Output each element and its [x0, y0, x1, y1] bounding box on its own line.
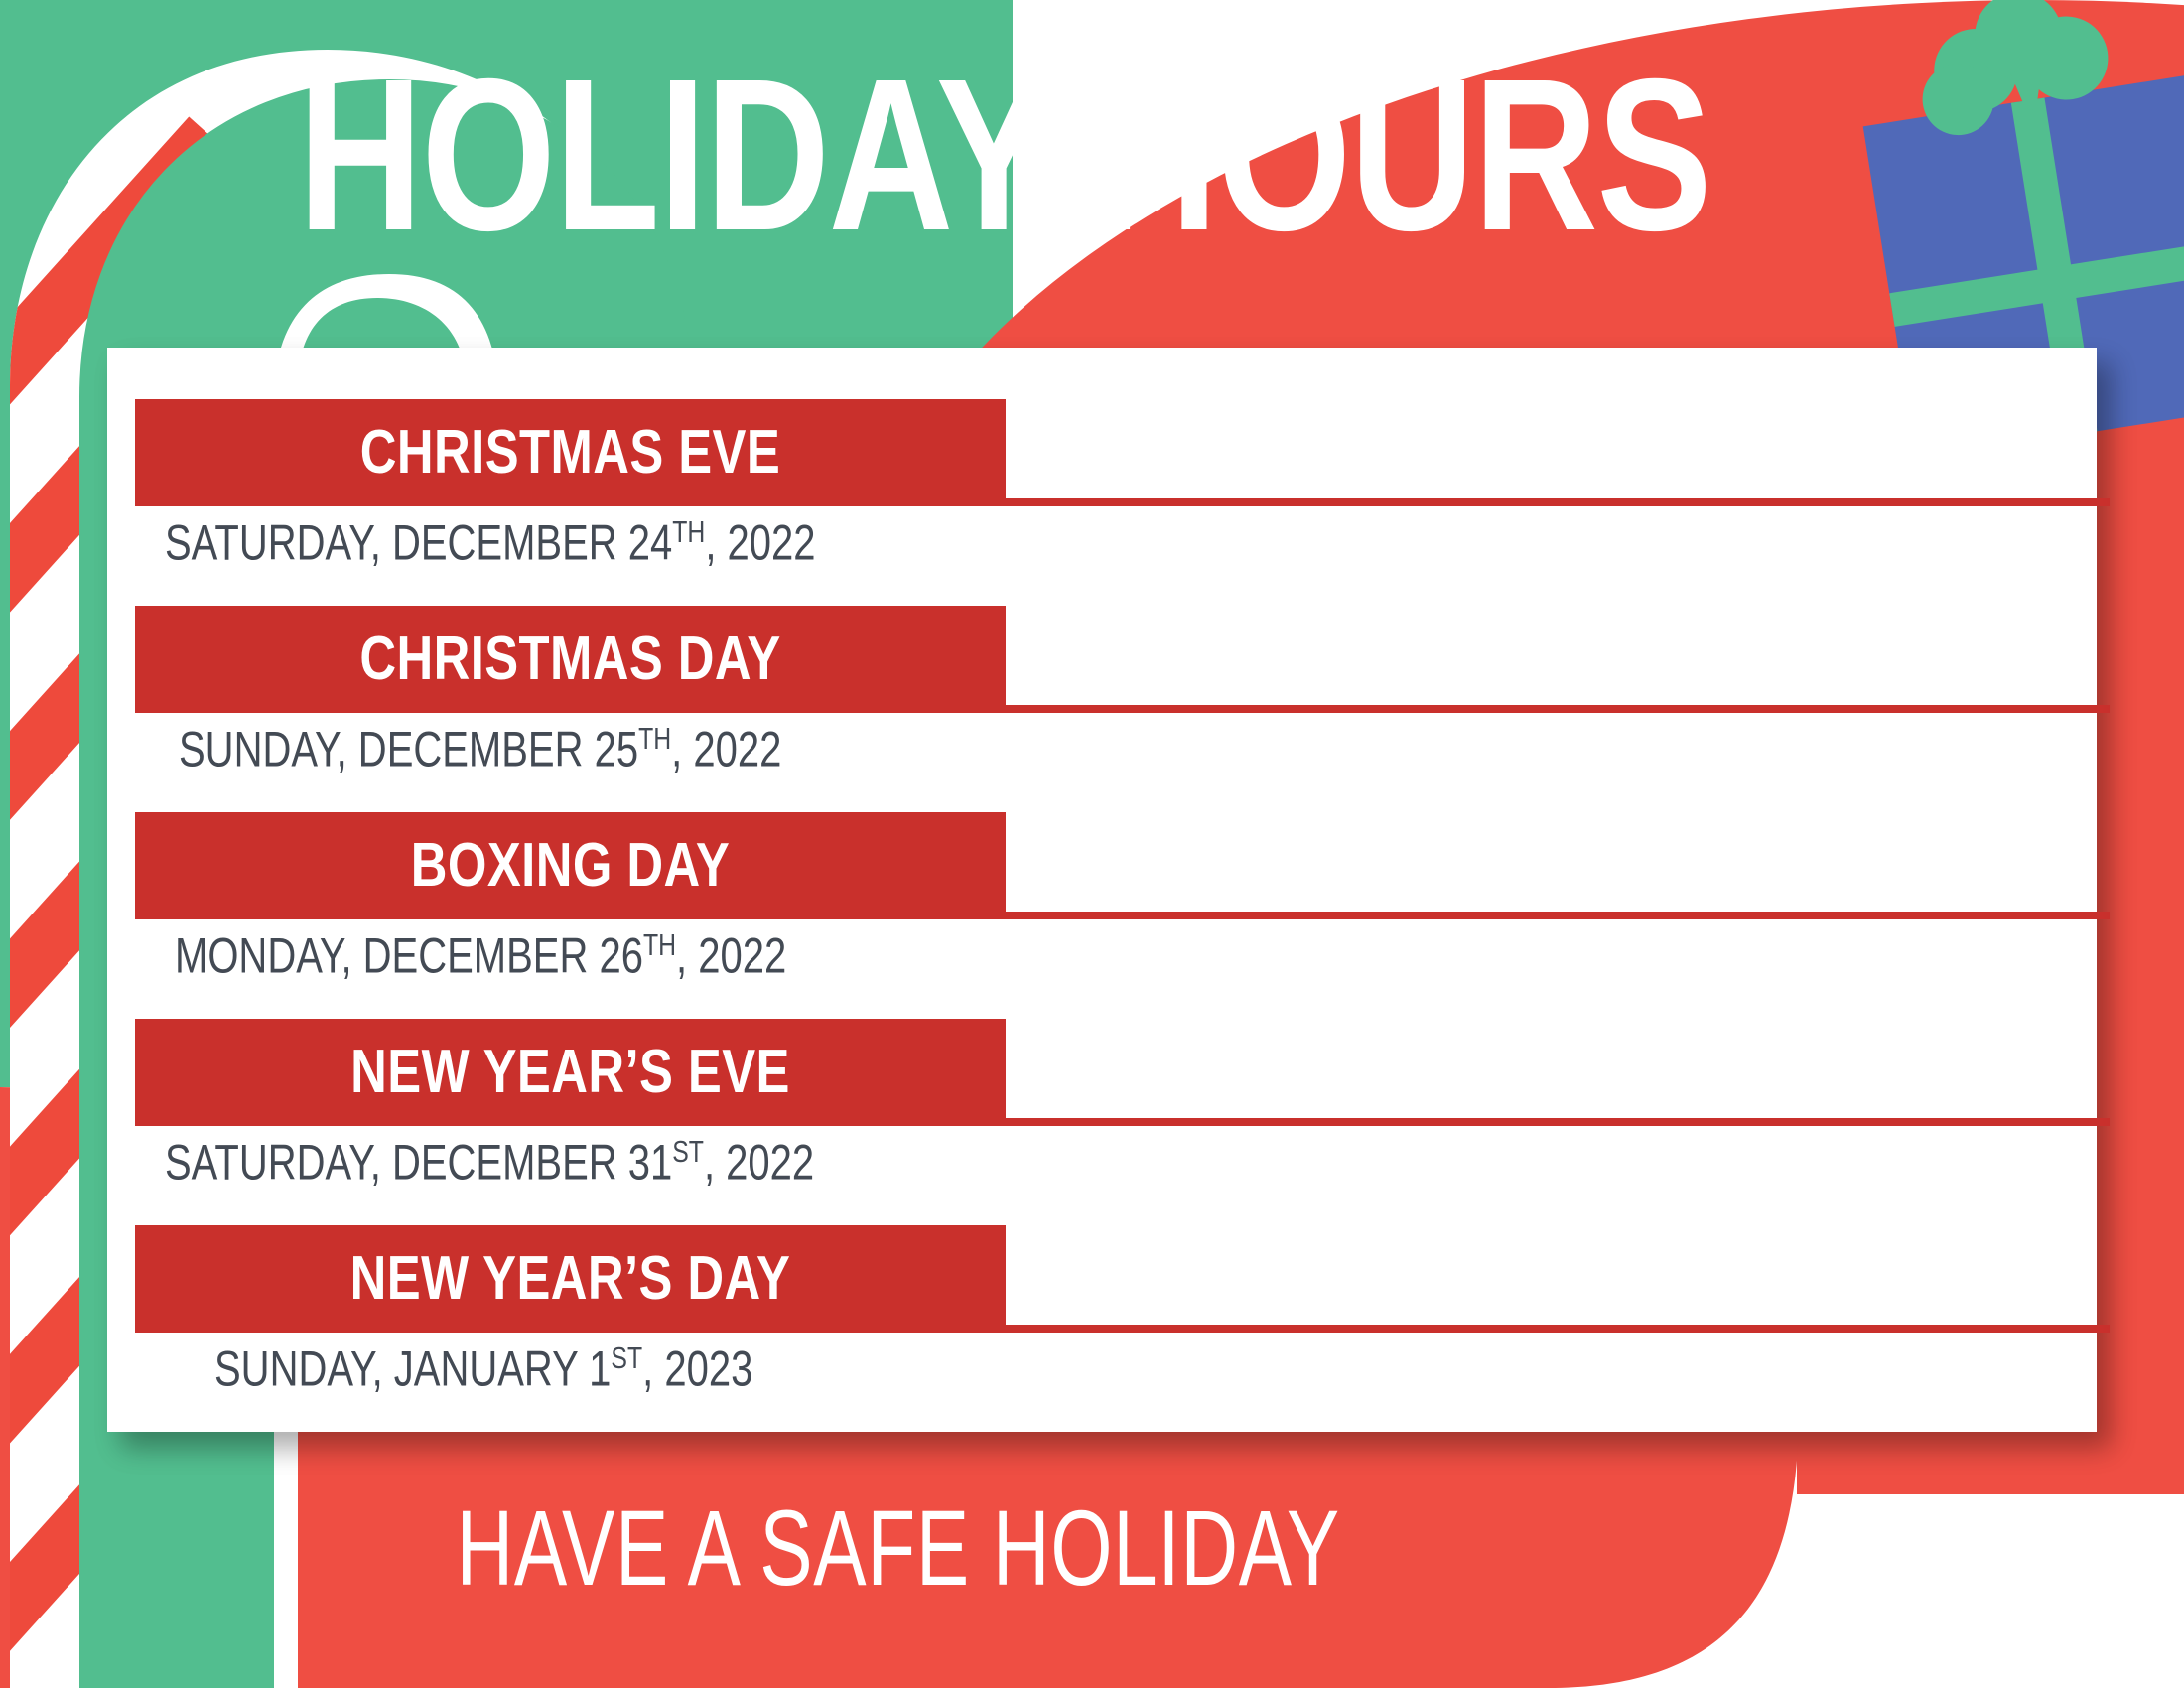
holiday-name-band: NEW YEAR’S EVE [135, 1019, 1006, 1126]
holiday-date-suffix: , 2023 [642, 1341, 752, 1397]
holiday-date-prefix: SATURDAY, DECEMBER 31 [165, 1135, 672, 1191]
holiday-name-band: CHRISTMAS EVE [135, 399, 1006, 506]
holiday-date-ordinal: ST [672, 1134, 704, 1169]
holiday-date: SATURDAY, DECEMBER 24TH, 2022 [165, 516, 978, 568]
hours-card: CHRISTMAS EVE SATURDAY, DECEMBER 24TH, 2… [107, 348, 2097, 1432]
write-in-rule[interactable] [1006, 912, 2110, 919]
holiday-name-label: BOXING DAY [213, 835, 927, 897]
write-in-rule[interactable] [1006, 705, 2110, 713]
holiday-name-label: CHRISTMAS EVE [213, 422, 927, 484]
holiday-date-ordinal: TH [643, 927, 676, 962]
footer-message: HAVE A SAFE HOLIDAY [0, 1494, 1797, 1602]
write-in-rule[interactable] [1006, 1118, 2110, 1126]
holiday-date-suffix: , 2022 [705, 515, 815, 571]
holiday-date-ordinal: TH [638, 721, 671, 756]
holiday-date-ordinal: TH [672, 514, 705, 549]
holiday-date-prefix: SUNDAY, DECEMBER 25 [179, 722, 638, 777]
holiday-date-suffix: , 2022 [676, 928, 786, 984]
holiday-name-label: NEW YEAR’S DAY [213, 1248, 927, 1310]
holiday-date-suffix: , 2022 [671, 722, 781, 777]
holiday-date: SATURDAY, DECEMBER 31ST, 2022 [165, 1136, 977, 1188]
holiday-date: SUNDAY, JANUARY 1ST, 2023 [214, 1342, 887, 1394]
holiday-name-band: NEW YEAR’S DAY [135, 1225, 1006, 1333]
holiday-date-prefix: MONDAY, DECEMBER 26 [175, 928, 643, 984]
write-in-rule[interactable] [1006, 1325, 2110, 1333]
holiday-name-label: CHRISTMAS DAY [213, 629, 927, 690]
holiday-name-band: CHRISTMAS DAY [135, 606, 1006, 713]
holiday-date-suffix: , 2022 [704, 1135, 814, 1191]
holiday-date-prefix: SATURDAY, DECEMBER 24 [165, 515, 672, 571]
holiday-date: MONDAY, DECEMBER 26TH, 2022 [175, 929, 939, 981]
holiday-date-ordinal: ST [611, 1340, 642, 1375]
page-title: HOLIDAY HOURS [298, 48, 1584, 264]
holiday-date: SUNDAY, DECEMBER 25TH, 2022 [179, 723, 932, 774]
holiday-name-band: BOXING DAY [135, 812, 1006, 919]
holiday-hours-poster: HOLIDAY HOURS CHRISTMAS EVE SATURDAY, DE… [0, 0, 2184, 1688]
holiday-rows-list: CHRISTMAS EVE SATURDAY, DECEMBER 24TH, 2… [107, 348, 2097, 1432]
holiday-name-label: NEW YEAR’S EVE [213, 1042, 927, 1103]
write-in-rule[interactable] [1006, 498, 2110, 506]
holiday-date-prefix: SUNDAY, JANUARY 1 [214, 1341, 611, 1397]
footer-message-text: HAVE A SAFE HOLIDAY [457, 1494, 1341, 1602]
